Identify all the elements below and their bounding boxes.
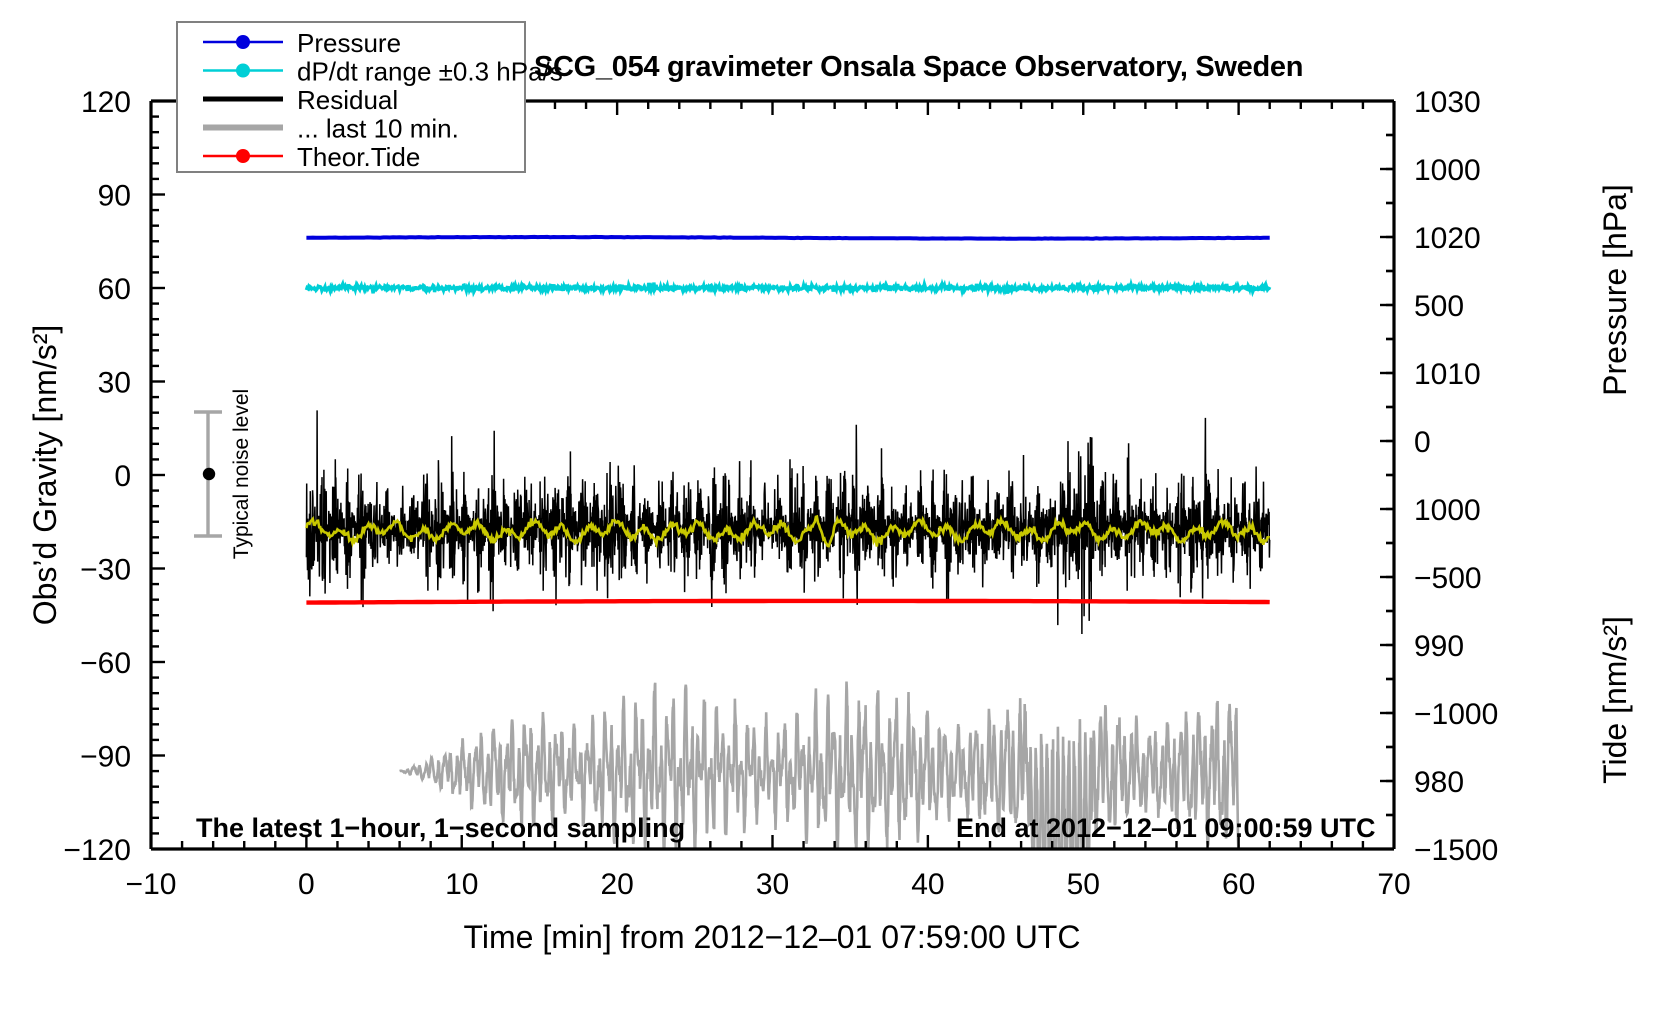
legend-item-label[interactable]: ... last 10 min. (297, 114, 459, 144)
typical-noise-level-marker: Typical noise level (194, 389, 253, 559)
axis-tick-label: 50 (1067, 868, 1100, 901)
bottom-right-note: End at 2012−12‒01 09:00:59 UTC (956, 813, 1376, 843)
axis-tick-label: 1000 (1414, 494, 1481, 527)
axis-tick-label: 980 (1414, 766, 1464, 799)
axis-tick-label: 1000 (1414, 154, 1481, 187)
legend-item-label[interactable]: Pressure (297, 28, 401, 58)
legend-item-label[interactable]: dP/dt range ±0.3 hPa/s (297, 57, 563, 87)
axis-tick-label: 0 (298, 868, 315, 901)
axis-tick-label: −90 (80, 741, 131, 774)
axis-tick-label: 990 (1414, 630, 1464, 663)
legend-marker-dot (236, 149, 250, 163)
legend[interactable]: PressuredP/dt range ±0.3 hPa/sResidual..… (177, 22, 563, 172)
legend-item-label[interactable]: Residual (297, 85, 398, 115)
legend-marker-dot (236, 35, 250, 49)
y-axis-label-tide: Tide [nm/s²] (1597, 616, 1633, 784)
axis-tick-label: 0 (1414, 426, 1431, 459)
axis-tick-label: 500 (1414, 290, 1464, 323)
axis-tick-label: −1000 (1414, 698, 1498, 731)
chart-page: SCG_054 gravimeter Onsala Space Observat… (0, 0, 1676, 1020)
axis-tick-label: 60 (1222, 868, 1255, 901)
axis-tick-label: 0 (114, 460, 131, 493)
axis-tick-label: −10 (126, 868, 177, 901)
axis-tick-label: −1500 (1414, 834, 1498, 867)
axis-tick-label: 60 (98, 273, 131, 306)
axes-layer (151, 101, 1394, 849)
axis-tick-label: −30 (80, 554, 131, 587)
axis-tick-label: 30 (98, 367, 131, 400)
chart-title: SCG_054 gravimeter Onsala Space Observat… (534, 51, 1303, 83)
axis-tick-label: −500 (1414, 562, 1482, 595)
bottom-left-note: The latest 1−hour, 1−second sampling (196, 813, 685, 843)
y-axis-label-left: Obs’d Gravity [nm/s²] (27, 325, 63, 626)
series-theor-tide (306, 601, 1269, 603)
axis-tick-label: 70 (1377, 868, 1410, 901)
axis-tick-label: −120 (63, 834, 131, 867)
axis-tick-label: 90 (98, 180, 131, 213)
legend-item-label[interactable]: Theor.Tide (297, 142, 420, 172)
axis-tick-label: 30 (756, 868, 789, 901)
axis-tick-label: 20 (600, 868, 633, 901)
typical-noise-level-label: Typical noise level (230, 389, 253, 559)
axis-tick-label: 10 (445, 868, 478, 901)
y-axis-label-pressure: Pressure [hPa] (1597, 184, 1633, 396)
axis-tick-label: 1030 (1414, 86, 1481, 119)
gravimeter-chart: SCG_054 gravimeter Onsala Space Observat… (0, 0, 1676, 1020)
axis-tick-label: 40 (911, 868, 944, 901)
axis-tick-label: 1010 (1414, 358, 1481, 391)
legend-marker-dot (236, 64, 250, 78)
series-pressure (306, 237, 1269, 239)
axis-tick-label: 1020 (1414, 222, 1481, 255)
series-dpdt (306, 283, 1269, 294)
x-axis-label: Time [min] from 2012−12‒01 07:59:00 UTC (464, 919, 1081, 955)
axis-tick-label: 120 (81, 86, 131, 119)
series-layer (306, 237, 1269, 852)
axis-tick-label: −60 (80, 647, 131, 680)
